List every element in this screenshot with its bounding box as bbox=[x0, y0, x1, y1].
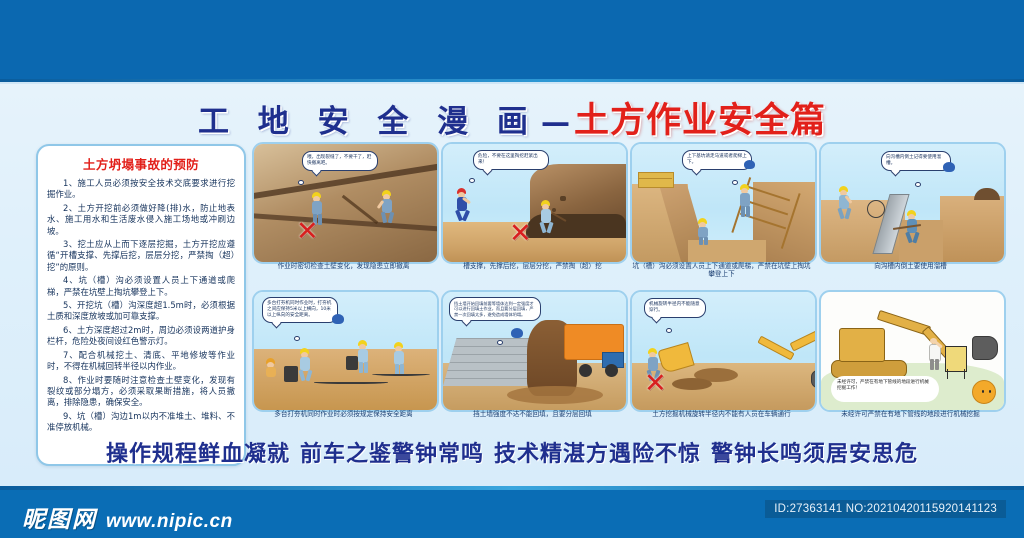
comic-panel-5: 多台打夯机同时作业时，打夯机之间应保持5米以上横向，10米以上纵向的安全距离。 … bbox=[252, 290, 435, 432]
site-watermark: 昵图网 www.nipic.cn bbox=[22, 500, 233, 534]
comic-panel-8: 未经许可，严禁在有地下管线的地段进行机械挖掘工作！ 未经许可严禁在有地下管线的地… bbox=[819, 290, 1002, 432]
worker-leg bbox=[359, 362, 363, 373]
supervisor-helmet-icon bbox=[744, 160, 755, 169]
page-title-dash: — bbox=[537, 105, 574, 139]
worker-leg bbox=[746, 206, 750, 217]
speech-bubble: 挡土墙开始回填前要等墙体达到一定强度才可以进行回填土作业，而且要分层回填，严禁一… bbox=[449, 297, 541, 321]
excavator-cabin bbox=[839, 328, 885, 362]
comic-panel-4: 向沟槽内倒土记得要使用溜槽。 向沟槽内倒土要使用溜槽 bbox=[819, 142, 1002, 284]
bubble-dot bbox=[732, 180, 738, 185]
slogan-part-2: 前车之鉴警钟常鸣 bbox=[295, 442, 489, 467]
comic-panel-6-caption: 挡土墙强度不达不能回填，且要分层回填 bbox=[441, 410, 624, 418]
comic-panel-3-caption: 坑（槽）沟必须设置人员上下通道或爬梯，严禁在坑壁上掏坑攀登上下 bbox=[630, 262, 813, 279]
rule-item: 8、作业时要随时注意检查土壁变化，发现有裂纹或部分塌方，必须采取果断措施，将人员… bbox=[47, 375, 235, 409]
truck-wheel bbox=[605, 364, 618, 377]
speech-bubble: 向沟槽内倒土记得要使用溜槽。 bbox=[881, 151, 951, 171]
supervisor-helmet-icon bbox=[943, 162, 955, 172]
rules-card-title: 土方坍塌事故的预防 bbox=[47, 154, 235, 173]
power-cable bbox=[372, 372, 430, 376]
bubble-dot bbox=[915, 182, 921, 187]
spoil-mound bbox=[672, 378, 712, 390]
guardrail bbox=[638, 172, 674, 188]
comic-panel-1-caption: 作业时密切检查土壁变化，发现隐患立即撤离 bbox=[252, 262, 435, 270]
worker-leg bbox=[741, 206, 745, 217]
rule-item: 7、配合机械挖土、清底、平地修坡等作业时，不得在机械回转半径以内作业。 bbox=[47, 350, 235, 373]
excavator-track bbox=[811, 370, 817, 388]
warning-x-icon: ✕ bbox=[296, 222, 319, 242]
site-logo-text: 昵图网 bbox=[22, 500, 97, 534]
rule-item: 3、挖土应从上而下逐层挖掘，土方开挖应遵循“开槽支撑、先撑后挖，层层分挖，严禁掏… bbox=[47, 239, 235, 273]
comic-panel-2: 危险，不要在这里掏挖赶紧出来！ ✕ 槽支撑，先撑后挖，层层分挖，严禁掏（超）挖 bbox=[441, 142, 624, 284]
mascot-eye bbox=[989, 390, 992, 393]
comic-panel-8-art: 未经许可，严禁在有地下管线的地段进行机械挖掘工作！ bbox=[819, 290, 1006, 412]
slogan-part-1: 操作规程鲜血凝就 bbox=[101, 442, 295, 467]
signboard-legs bbox=[947, 369, 965, 379]
worker-leg bbox=[704, 237, 708, 245]
speech-bubble: 上下基坑请走马道或者爬梯上下。 bbox=[682, 150, 752, 170]
rules-card: 土方坍塌事故的预防 1、施工人员必须按安全技术交底要求进行挖掘作业。 2、土方开… bbox=[36, 144, 246, 466]
comic-panel-1-art: 喂，出现裂缝了，不要干了，赶快撤离吧。 ✕ bbox=[252, 142, 439, 264]
worker-body bbox=[358, 349, 368, 363]
rule-item: 1、施工人员必须按安全技术交底要求进行挖掘作业。 bbox=[47, 178, 235, 201]
guardrail-mid-bar bbox=[638, 178, 672, 179]
rule-item: 4、坑（槽）沟必须设置人员上下通道或爬梯，严禁在坑壁上掏坑攀登上下。 bbox=[47, 275, 235, 298]
worker-body bbox=[266, 367, 276, 377]
supervisor-helmet-icon bbox=[332, 314, 344, 324]
rule-item: 9、坑（槽）沟边1m以内不准堆土、堆料、不准停放机械。 bbox=[47, 411, 235, 434]
retaining-wall bbox=[443, 338, 540, 386]
comic-panel-6-art: 挡土墙开始回填前要等墙体达到一定强度才可以进行回填土作业，而且要分层回填，严禁一… bbox=[441, 290, 628, 412]
rule-item: 2、土方开挖前必须做好降(排)水，防止地表水、施工用水和生活废水侵入施工场地或冲… bbox=[47, 203, 235, 237]
slogan-bar: 操作规程鲜血凝就前车之鉴警钟常鸣技术精湛方遇险不惊警钟长鸣须居安思危 bbox=[0, 436, 1024, 468]
rules-card-body: 1、施工人员必须按安全技术交底要求进行挖掘作业。 2、土方开挖前必须做好降(排)… bbox=[47, 178, 235, 434]
comic-panel-3: 上下基坑请走马道或者爬梯上下。 坑（槽）沟必须设置人员上下通道或爬梯，严禁在坑壁… bbox=[630, 142, 813, 284]
mascot-icon bbox=[972, 380, 996, 404]
worker-body bbox=[740, 193, 750, 207]
comic-panel-4-caption: 向沟槽内倒土要使用溜槽 bbox=[819, 262, 1002, 270]
comic-panel-7-art: 机械旋转半径内不能随意穿行。 ✕ bbox=[630, 290, 817, 412]
top-banner-band bbox=[0, 0, 1024, 82]
comic-panel-5-art: 多台打夯机同时作业时，打夯机之间应保持5米以上横向，10米以上纵向的安全距离。 bbox=[252, 290, 439, 412]
truck-wheel bbox=[579, 364, 592, 377]
bubble-dot bbox=[497, 340, 503, 345]
caption-callout: 未经许可，严禁在有地下管线的地段进行机械挖掘工作！ bbox=[831, 376, 939, 402]
page-title-main: 工 地 安 全 漫 画 bbox=[198, 104, 537, 140]
screenshot-root: 工 地 安 全 漫 画—土方作业安全篇 土方坍塌事故的预防 1、施工人员必须按安… bbox=[0, 0, 1024, 538]
comic-panel-6: 挡土墙开始回填前要等墙体达到一定强度才可以进行回填土作业，而且要分层回填，严禁一… bbox=[441, 290, 624, 432]
soil-heap bbox=[507, 386, 603, 404]
supervisor-helmet-icon bbox=[511, 328, 523, 338]
comic-panel-4-art: 向沟槽内倒土记得要使用溜槽。 bbox=[819, 142, 1006, 264]
rule-item: 6、土方深度超过2m时，周边必须设两道护身栏杆，危险处夜间设红色警示灯。 bbox=[47, 325, 235, 348]
bubble-dot bbox=[469, 178, 475, 183]
excavator-bucket bbox=[972, 336, 998, 360]
comic-panel-3-art: 上下基坑请走马道或者爬梯上下。 bbox=[630, 142, 817, 264]
trench-right-bank bbox=[940, 196, 1004, 262]
page-title: 工 地 安 全 漫 画—土方作业安全篇 bbox=[0, 92, 1024, 143]
bubble-dot bbox=[666, 328, 672, 333]
warning-x-icon: ✕ bbox=[509, 224, 532, 244]
worker-body bbox=[312, 201, 322, 215]
poster-canvas: 工 地 安 全 漫 画—土方作业安全篇 土方坍塌事故的预防 1、施工人员必须按安… bbox=[0, 82, 1024, 490]
speech-bubble: 机械旋转半径内不能随意穿行。 bbox=[644, 298, 706, 318]
site-url: www.nipic.cn bbox=[106, 511, 233, 533]
comic-panel-8-caption: 未经许可严禁在有地下管线的地段进行机械挖掘 bbox=[819, 410, 1002, 418]
worker-leg bbox=[699, 237, 703, 245]
tamper-machine bbox=[284, 366, 298, 382]
page-title-accent: 土方作业安全篇 bbox=[574, 101, 826, 141]
comic-panel-1: 喂，出现裂缝了，不要干了，赶快撤离吧。 ✕ 作业时密切检查土壁变化，发现隐患立即… bbox=[252, 142, 435, 284]
slogan-part-4: 警钟长鸣须居安思危 bbox=[706, 442, 923, 467]
comic-panel-5-caption: 多台打夯机同时作业时必须按规定保持安全距离 bbox=[252, 410, 435, 418]
comic-panel-7: 机械旋转半径内不能随意穿行。 ✕ 土方挖掘机械旋转半径内不能有人员在车辆通行 bbox=[630, 290, 813, 432]
comic-panel-2-art: 危险，不要在这里掏挖赶紧出来！ ✕ bbox=[441, 142, 628, 264]
footer-divider bbox=[0, 486, 1024, 490]
inspector-leg bbox=[930, 359, 934, 370]
power-cable bbox=[314, 380, 388, 384]
mascot-eye bbox=[982, 390, 985, 393]
bubble-dot bbox=[298, 180, 304, 185]
worker-leg bbox=[364, 362, 368, 373]
tamper-machine bbox=[346, 356, 358, 370]
inspector-leg bbox=[935, 359, 939, 370]
speech-bubble: 多台打夯机同时作业时，打夯机之间应保持5米以上横向，10米以上纵向的安全距离。 bbox=[262, 297, 338, 323]
worker-body bbox=[394, 351, 404, 365]
asset-id-chip: ID:27363141 NO:20210420115920141123 bbox=[765, 500, 1006, 518]
falling-debris bbox=[560, 196, 566, 201]
speech-bubble: 危险，不要在这里掏挖赶紧出来！ bbox=[473, 150, 549, 170]
bubble-dot bbox=[294, 336, 300, 341]
comic-panel-7-caption: 土方挖掘机械旋转半径内不能有人员在车辆通行 bbox=[630, 410, 813, 418]
slogan-part-3: 技术精湛方遇险不惊 bbox=[489, 442, 706, 467]
wheelbarrow-wheel bbox=[867, 200, 885, 218]
comic-grid: 喂，出现裂缝了，不要干了，赶快撤离吧。 ✕ 作业时密切检查土壁变化，发现隐患立即… bbox=[252, 142, 1004, 432]
rule-item: 5、开挖坑（槽）沟深度超1.5m时，必须根据土质和深度放坡或加可靠支撑。 bbox=[47, 300, 235, 323]
footer-band: 昵图网 www.nipic.cn ID:27363141 NO:20210420… bbox=[0, 486, 1024, 538]
warning-x-icon: ✕ bbox=[644, 374, 667, 394]
speech-bubble: 喂，出现裂缝了，不要干了，赶快撤离吧。 bbox=[302, 151, 378, 171]
comic-panel-2-caption: 槽支撑，先撑后挖，层层分挖，严禁掏（超）挖 bbox=[441, 262, 624, 270]
